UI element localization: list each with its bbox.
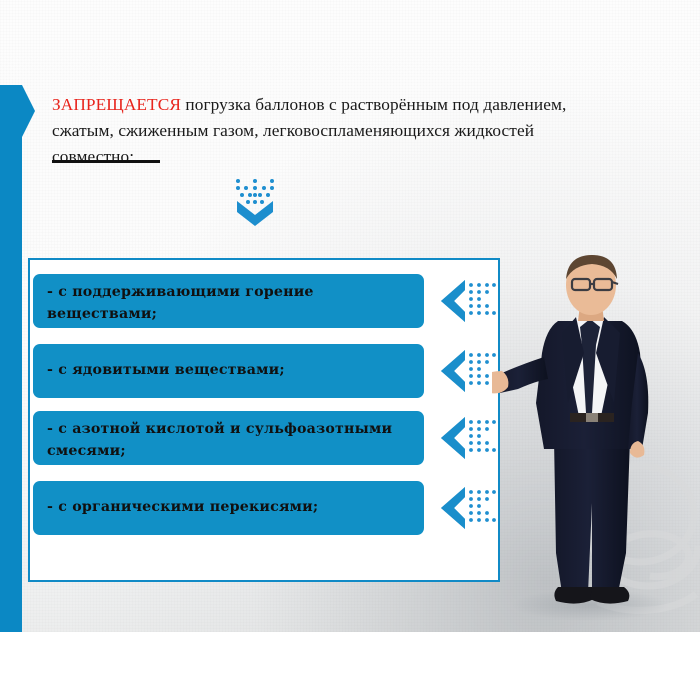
left-accent-arrow-point [22, 85, 35, 137]
list-item[interactable]: - с азотной кислотой и сульфоазотными см… [33, 411, 495, 465]
chevron-left-dotted-icon [427, 346, 501, 396]
businessman-photo [492, 253, 688, 632]
list-item-label: - с ядовитыми веществами; [33, 344, 424, 398]
list-item[interactable]: - с поддерживающими горение веществами; [33, 274, 495, 328]
list-item-label: - с азотной кислотой и сульфоазотными см… [33, 411, 424, 465]
heading-underline [52, 160, 160, 163]
heading-keyword: ЗАПРЕЩАЕТСЯ [52, 95, 181, 114]
heading-line1-rest: погрузка баллонов с растворённым под дав… [181, 95, 566, 114]
list-item[interactable]: - с ядовитыми веществами; [33, 344, 495, 398]
list-item[interactable]: - с органическими перекисями; [33, 481, 495, 535]
chevron-left-dotted-icon [427, 483, 501, 533]
chevron-down-dotted-icon [232, 177, 278, 227]
slide-canvas: ЗАПРЕЩАЕТСЯ погрузка баллонов с растворё… [0, 0, 700, 632]
heading-line3: совместно: [52, 147, 134, 166]
list-item-label: - с поддерживающими горение веществами; [33, 274, 424, 328]
left-accent-bar [0, 85, 22, 632]
chevron-left-dotted-icon [427, 276, 501, 326]
chevron-left-dotted-icon [427, 413, 501, 463]
heading-line2: сжатым, сжиженным газом, легковоспламеня… [52, 121, 534, 140]
list-item-label: - с органическими перекисями; [33, 481, 424, 535]
page-title: ЗАПРЕЩАЕТСЯ погрузка баллонов с растворё… [52, 92, 672, 170]
